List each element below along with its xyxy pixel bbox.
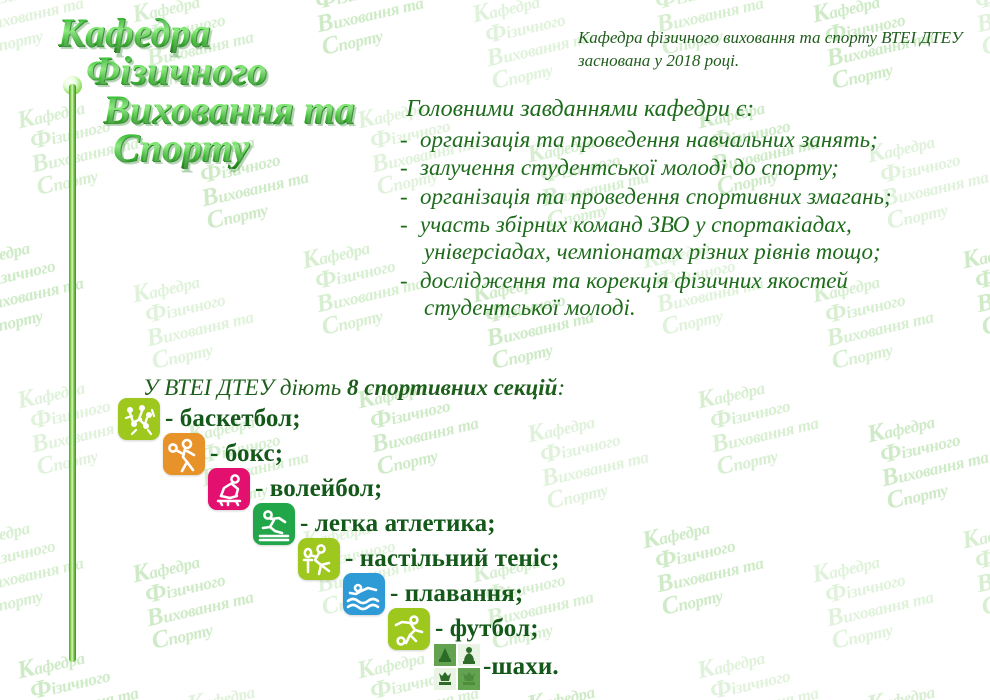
sport-sections-list: - баскетбол; - бокс; - волейбол;	[0, 0, 990, 700]
chess-icon	[433, 643, 481, 691]
slide-canvas: КафедраФізичногоВиховання таСпортуКафедр…	[0, 0, 990, 700]
sport-section-label: - плавання;	[390, 580, 523, 608]
basketball-icon	[118, 398, 160, 440]
swimming-icon	[343, 573, 385, 615]
athletics-icon	[253, 503, 295, 545]
volleyball-icon	[208, 468, 250, 510]
sport-section-label: - легка атлетика;	[300, 510, 496, 538]
sport-section-label: - баскетбол;	[165, 405, 301, 433]
table-tennis-icon	[298, 538, 340, 580]
sport-section-item[interactable]: -шахи.	[433, 643, 559, 691]
sport-section-label: -шахи.	[483, 653, 559, 681]
football-icon	[388, 608, 430, 650]
sport-section-label: - волейбол;	[255, 475, 382, 503]
boxing-icon	[163, 433, 205, 475]
sport-section-label: - бокс;	[210, 440, 283, 468]
sport-section-label: - настільний теніс;	[345, 545, 560, 573]
sport-section-label: - футбол;	[435, 615, 539, 643]
